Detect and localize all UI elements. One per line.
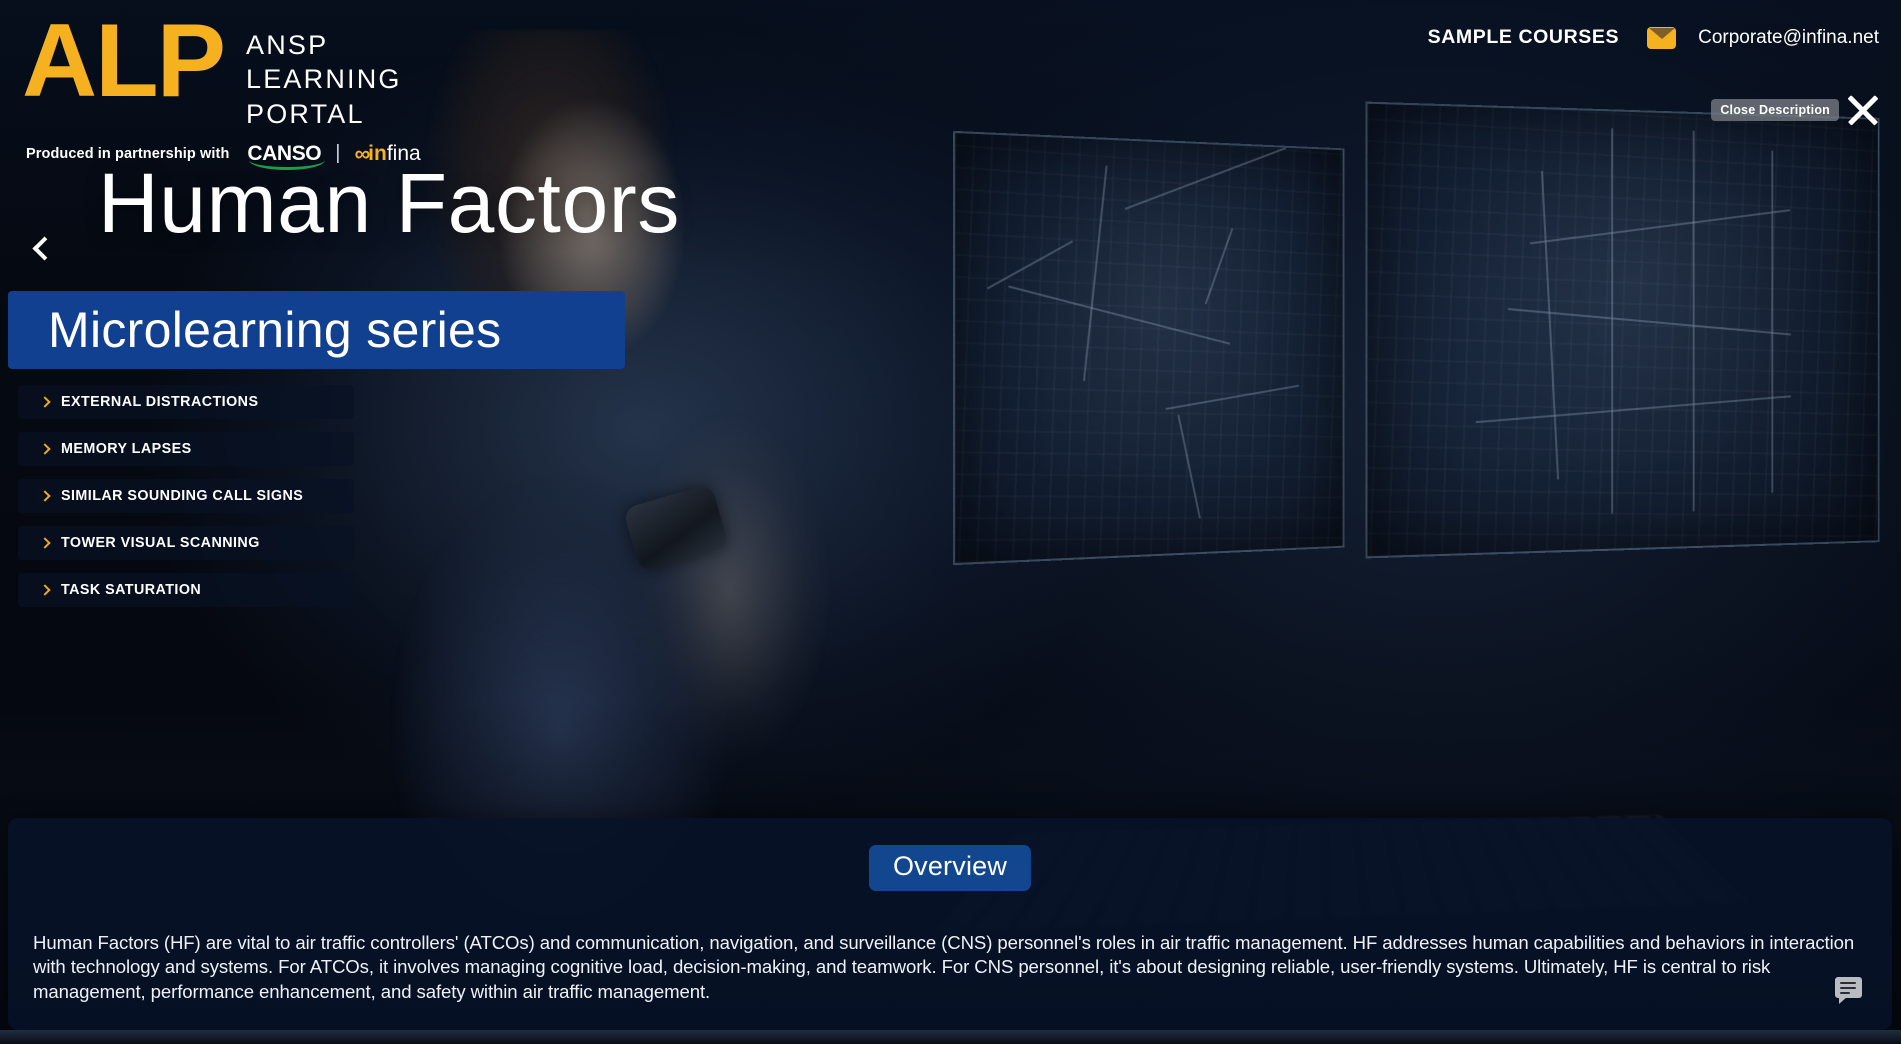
background-radar-monitor-left — [953, 131, 1344, 565]
module-list: EXTERNAL DISTRACTIONS MEMORY LAPSES SIMI… — [18, 385, 354, 620]
header-nav: SAMPLE COURSES Corporate@infina.net — [1428, 26, 1879, 49]
chevron-right-icon — [32, 398, 58, 406]
module-item-similar-sounding-call-signs[interactable]: SIMILAR SOUNDING CALL SIGNS — [18, 479, 354, 513]
description-text: Human Factors (HF) are vital to air traf… — [33, 931, 1867, 1004]
module-item-task-saturation[interactable]: TASK SATURATION — [18, 573, 354, 607]
alp-wordmark: ALP — [22, 14, 224, 110]
background-radar-monitor-right — [1365, 102, 1879, 559]
alp-subtitle-line-2: LEARNING — [246, 62, 402, 96]
chevron-right-icon — [32, 539, 58, 547]
contact-email-group[interactable]: Corporate@infina.net — [1647, 27, 1879, 49]
radar-trace-left — [955, 133, 1342, 563]
envelope-icon — [1647, 27, 1676, 49]
radar-trace-right — [1367, 104, 1877, 557]
series-banner-label: Microlearning series — [48, 301, 501, 359]
module-item-tower-visual-scanning[interactable]: TOWER VISUAL SCANNING — [18, 526, 354, 560]
contact-email-text[interactable]: Corporate@infina.net — [1698, 27, 1879, 49]
alp-subtitle-line-3: PORTAL — [246, 97, 402, 131]
series-banner: Microlearning series — [8, 291, 625, 369]
module-label: SIMILAR SOUNDING CALL SIGNS — [61, 488, 303, 504]
chevron-right-icon — [32, 445, 58, 453]
alp-subtitle: ANSP LEARNING PORTAL — [246, 28, 402, 131]
module-label: TOWER VISUAL SCANNING — [61, 535, 260, 551]
course-page: ALP ANSP LEARNING PORTAL Produced in par… — [0, 0, 1901, 1044]
chevron-right-icon — [32, 492, 58, 500]
nav-link-sample-courses[interactable]: SAMPLE COURSES — [1428, 26, 1620, 49]
chat-bubble-icon[interactable] — [1835, 977, 1862, 1002]
overview-badge[interactable]: Overview — [869, 845, 1031, 891]
module-label: EXTERNAL DISTRACTIONS — [61, 394, 258, 410]
bottom-strip — [0, 1030, 1901, 1044]
brand-logo[interactable]: ALP ANSP LEARNING PORTAL Produced in par… — [22, 14, 421, 167]
close-description-tooltip: Close Description — [1711, 99, 1839, 121]
module-label: TASK SATURATION — [61, 582, 201, 598]
alp-subtitle-line-1: ANSP — [246, 28, 402, 62]
close-icon[interactable] — [1841, 88, 1885, 132]
module-item-external-distractions[interactable]: EXTERNAL DISTRACTIONS — [18, 385, 354, 419]
description-panel: Overview Human Factors (HF) are vital to… — [8, 818, 1892, 1030]
chevron-right-icon — [32, 586, 58, 594]
page-title: Human Factors — [98, 155, 680, 252]
module-item-memory-lapses[interactable]: MEMORY LAPSES — [18, 432, 354, 466]
chevron-left-icon[interactable] — [22, 232, 62, 272]
module-label: MEMORY LAPSES — [61, 441, 192, 457]
